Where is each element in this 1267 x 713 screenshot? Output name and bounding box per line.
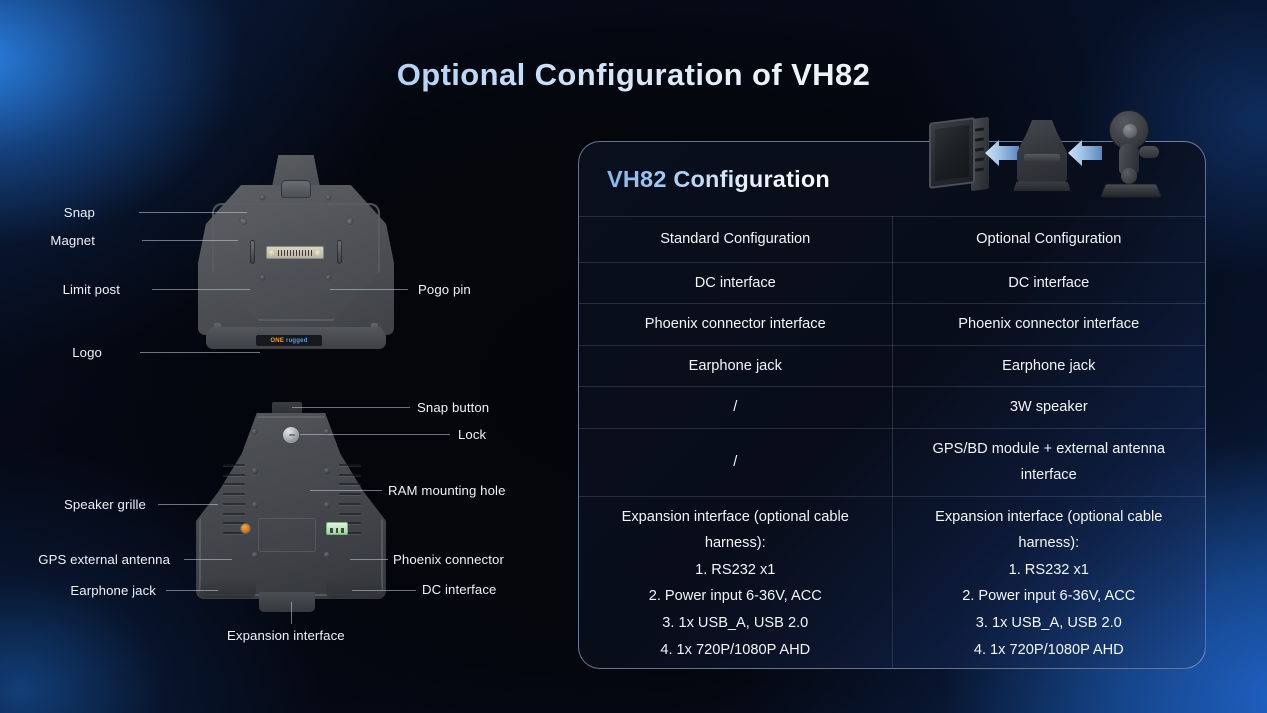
tablet-port (975, 138, 984, 142)
pogo-pin (308, 250, 310, 256)
label-ram-mounting-hole: RAM mounting hole (388, 483, 506, 498)
snap-latch (281, 180, 311, 198)
leader-line-speaker-grille (158, 504, 218, 505)
logo-suffix-text: rugged (286, 338, 308, 344)
cell-standard: / (579, 387, 892, 429)
leader-line-ram-mounting-hole (310, 490, 382, 491)
ram-mounting-hole (324, 468, 330, 474)
ram-mounting-hole (252, 552, 258, 558)
grille-slot (339, 483, 361, 485)
phoenix-pin (336, 528, 339, 533)
table-row: / 3W speaker (579, 387, 1205, 429)
ram-mounting-hole (252, 502, 258, 508)
pogo-pin (284, 250, 286, 256)
mount-ball-joint (1121, 168, 1137, 184)
cradle-baseplate (1013, 182, 1071, 191)
pogo-pin (299, 250, 301, 256)
cell-optional: GPS/BD module + external antenna interfa… (892, 428, 1205, 496)
mount-tightening-knob (1139, 146, 1159, 158)
vh82-configuration-panel: VH82 Configuration Standard Configuratio… (578, 141, 1206, 669)
grille-slot (223, 503, 245, 505)
expansion-interface-port (259, 592, 315, 612)
phoenix-pin (341, 528, 344, 533)
label-snap: Snap (30, 205, 95, 220)
cell-optional: DC interface (892, 262, 1205, 304)
grille-slot (339, 503, 361, 505)
cradle-clamp-bar (1024, 154, 1060, 162)
ram-mounting-hole (252, 468, 258, 474)
magnet-point (241, 219, 247, 225)
cradle-front-illustration: ONE rugged (198, 155, 394, 363)
ram-mounting-hole (324, 552, 330, 558)
cell-optional: 3W speaker (892, 387, 1205, 429)
screw-icon (326, 275, 331, 280)
product-assembly-illustration (925, 106, 1175, 206)
pogo-pin (278, 250, 280, 256)
grille-slot (223, 474, 245, 476)
plate-foot-right (326, 578, 382, 598)
cell-standard: Earphone jack (579, 345, 892, 387)
label-snap-button: Snap button (417, 400, 489, 415)
screw-icon (326, 195, 331, 200)
configuration-table: Standard Configuration Optional Configur… (579, 216, 1205, 669)
column-header-optional: Optional Configuration (892, 217, 1205, 263)
table-row: Earphone jack Earphone jack (579, 345, 1205, 387)
table-header-row: Standard Configuration Optional Configur… (579, 217, 1205, 263)
grille-slot (223, 483, 245, 485)
cell-optional: Earphone jack (892, 345, 1205, 387)
ram-ball-mount-image (1097, 110, 1169, 200)
grille-slot (339, 493, 361, 495)
pogo-cap-screw (315, 250, 321, 256)
label-pogo-pin: Pogo pin (418, 282, 471, 297)
leader-line-lock (300, 434, 450, 435)
rugged-tablet-image (929, 116, 991, 192)
table-row: / GPS/BD module + external antenna inter… (579, 428, 1205, 496)
label-limit-post: Limit post (14, 282, 120, 297)
table-row: Expansion interface (optional cable harn… (579, 496, 1205, 669)
table-row: DC interface DC interface (579, 262, 1205, 304)
label-earphone-jack: Earphone jack (26, 583, 156, 598)
label-logo: Logo (40, 345, 102, 360)
panel-title: VH82 Configuration (607, 166, 830, 193)
cell-standard: Phoenix connector interface (579, 304, 892, 346)
label-magnet: Magnet (18, 233, 95, 248)
tablet-port (975, 158, 984, 162)
leader-line-magnet (142, 240, 238, 241)
pogo-pin (296, 250, 298, 256)
phoenix-connector (326, 522, 348, 535)
mount-base-plate (1100, 184, 1162, 197)
leader-line-snap-button (292, 407, 410, 408)
grille-slot (339, 513, 361, 515)
cell-optional: Phoenix connector interface (892, 304, 1205, 346)
label-speaker-grille: Speaker grille (26, 497, 146, 512)
cell-standard: / (579, 428, 892, 496)
cell-optional: Expansion interface (optional cable harn… (892, 496, 1205, 669)
pogo-pin (287, 250, 289, 256)
label-lock: Lock (458, 427, 486, 442)
plate-foot-left (200, 578, 256, 598)
lock-cylinder (282, 426, 300, 444)
grille-slot (223, 493, 245, 495)
leader-line-earphone-jack (166, 590, 218, 591)
pogo-pin (290, 250, 292, 256)
page-title: Optional Configuration of VH82 (0, 57, 1267, 93)
tablet-port (975, 128, 984, 132)
pogo-pin-connector (266, 246, 324, 259)
magnet-point (347, 219, 353, 225)
pogo-cap-screw (269, 250, 275, 256)
leader-line-dc-interface (352, 590, 416, 591)
brand-logo: ONE rugged (256, 335, 322, 346)
table-row: Phoenix connector interface Phoenix conn… (579, 304, 1205, 346)
slide-canvas: Optional Configuration of VH82 (0, 0, 1267, 713)
pogo-pin (293, 250, 295, 256)
cradle-shell (1017, 120, 1067, 182)
cell-standard: DC interface (579, 262, 892, 304)
leader-line-pogo-pin (330, 289, 408, 290)
screw-icon (260, 275, 265, 280)
pogo-pin (305, 250, 307, 256)
leader-line-phoenix-connector (350, 559, 388, 560)
pogo-pin (302, 250, 304, 256)
logo-brand-text: ONE (270, 338, 284, 344)
cell-standard: Expansion interface (optional cable harn… (579, 496, 892, 669)
screw-icon (260, 195, 265, 200)
tablet-port (975, 148, 984, 152)
grille-slot (223, 513, 245, 515)
leader-line-limit-post (152, 289, 250, 290)
leader-line-expansion-interface (291, 602, 292, 624)
grille-slot (339, 464, 361, 466)
leader-line-logo (140, 352, 260, 353)
phoenix-pin (330, 528, 333, 533)
grille-slot (223, 464, 245, 466)
pogo-pin (281, 250, 283, 256)
label-expansion-interface: Expansion interface (227, 628, 345, 643)
label-dc-interface: DC interface (422, 582, 497, 597)
pogo-pin (311, 250, 313, 256)
tablet-screen (929, 117, 975, 189)
screw-icon (252, 429, 257, 434)
ram-mounting-hole (324, 502, 330, 508)
vehicle-dock-cradle-image (1013, 120, 1071, 196)
limit-post (337, 240, 342, 264)
grille-slot (339, 474, 361, 476)
leader-line-snap (139, 212, 247, 213)
gps-external-antenna-port (240, 523, 251, 534)
column-header-standard: Standard Configuration (579, 217, 892, 263)
limit-post (250, 240, 255, 264)
label-phoenix-connector: Phoenix connector (393, 552, 504, 567)
label-gps-external-antenna: GPS external antenna (10, 552, 170, 567)
expansion-cover-panel (258, 518, 316, 552)
tablet-port (975, 168, 984, 172)
configuration-table-body: Standard Configuration Optional Configur… (579, 217, 1205, 670)
leader-line-gps-external-antenna (184, 559, 232, 560)
